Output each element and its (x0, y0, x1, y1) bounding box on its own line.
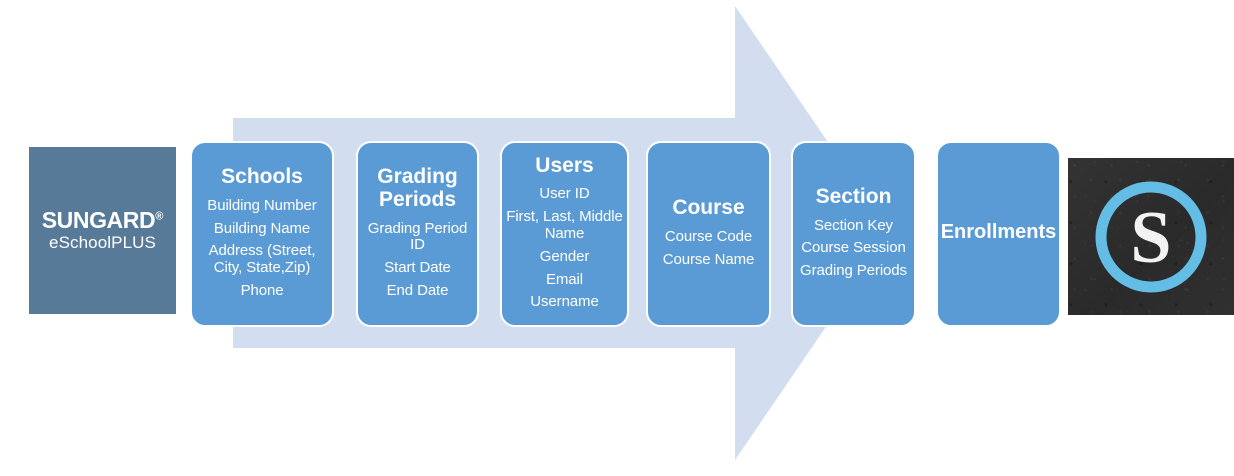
stage-card-section[interactable]: Section Section Key Course Session Gradi… (791, 141, 916, 327)
stage-title-schools: Schools (221, 166, 303, 189)
stage-field: Address (Street, City, State,Zip) (196, 243, 328, 277)
stage-field: Gender (540, 249, 589, 266)
stage-fields-grading-periods: Grading Period ID Start Date End Date (362, 221, 473, 300)
stage-card-grading-periods[interactable]: Grading Periods Grading Period ID Start … (356, 141, 479, 327)
stage-title-section: Section (816, 186, 892, 209)
stage-fields-schools: Building Number Building Name Address (S… (196, 198, 328, 300)
schoology-logo-letter: S (1130, 197, 1171, 279)
stage-field: User ID (539, 186, 589, 203)
stage-field: Course Session (801, 240, 906, 257)
stage-card-enrollments[interactable]: Enrollments (936, 141, 1061, 327)
stage-field: Section Key (814, 218, 893, 235)
sungard-product-name: eSchoolPLUS (49, 234, 156, 253)
stage-field: End Date (387, 283, 449, 300)
diagram-canvas: SUNGARD® eSchoolPLUS Schools Building Nu… (0, 0, 1234, 476)
stage-title-course: Course (672, 197, 744, 220)
stage-field: First, Last, Middle Name (506, 209, 623, 243)
stage-fields-course: Course Code Course Name (663, 229, 754, 269)
stage-title-grading-periods: Grading Periods (362, 166, 473, 211)
schoology-logo-icon: S (1089, 175, 1213, 299)
stage-title-enrollments: Enrollments (941, 222, 1057, 244)
stage-field: Username (530, 294, 598, 311)
sungard-wordmark-text: SUNGARD (42, 207, 155, 233)
registered-trademark-icon: ® (155, 210, 163, 222)
stage-field: Start Date (384, 260, 451, 277)
stage-card-schools[interactable]: Schools Building Number Building Name Ad… (190, 141, 334, 327)
stage-card-course[interactable]: Course Course Code Course Name (646, 141, 771, 327)
stage-field: Building Number (207, 198, 316, 215)
stage-field: Course Name (663, 252, 754, 269)
stage-fields-users: User ID First, Last, Middle Name Gender … (506, 186, 623, 311)
source-system-sungard: SUNGARD® eSchoolPLUS (29, 147, 176, 314)
target-system-schoology: S (1068, 158, 1234, 315)
stage-fields-section: Section Key Course Session Grading Perio… (800, 218, 907, 280)
stage-title-users: Users (535, 155, 593, 178)
stage-field: Course Code (665, 229, 752, 246)
stage-field: Grading Periods (800, 263, 907, 280)
stage-field: Building Name (214, 221, 310, 238)
stage-field: Grading Period ID (362, 221, 473, 255)
stage-field: Email (546, 272, 583, 289)
stage-card-users[interactable]: Users User ID First, Last, Middle Name G… (500, 141, 629, 327)
sungard-wordmark: SUNGARD® (42, 208, 164, 232)
stage-field: Phone (241, 283, 284, 300)
